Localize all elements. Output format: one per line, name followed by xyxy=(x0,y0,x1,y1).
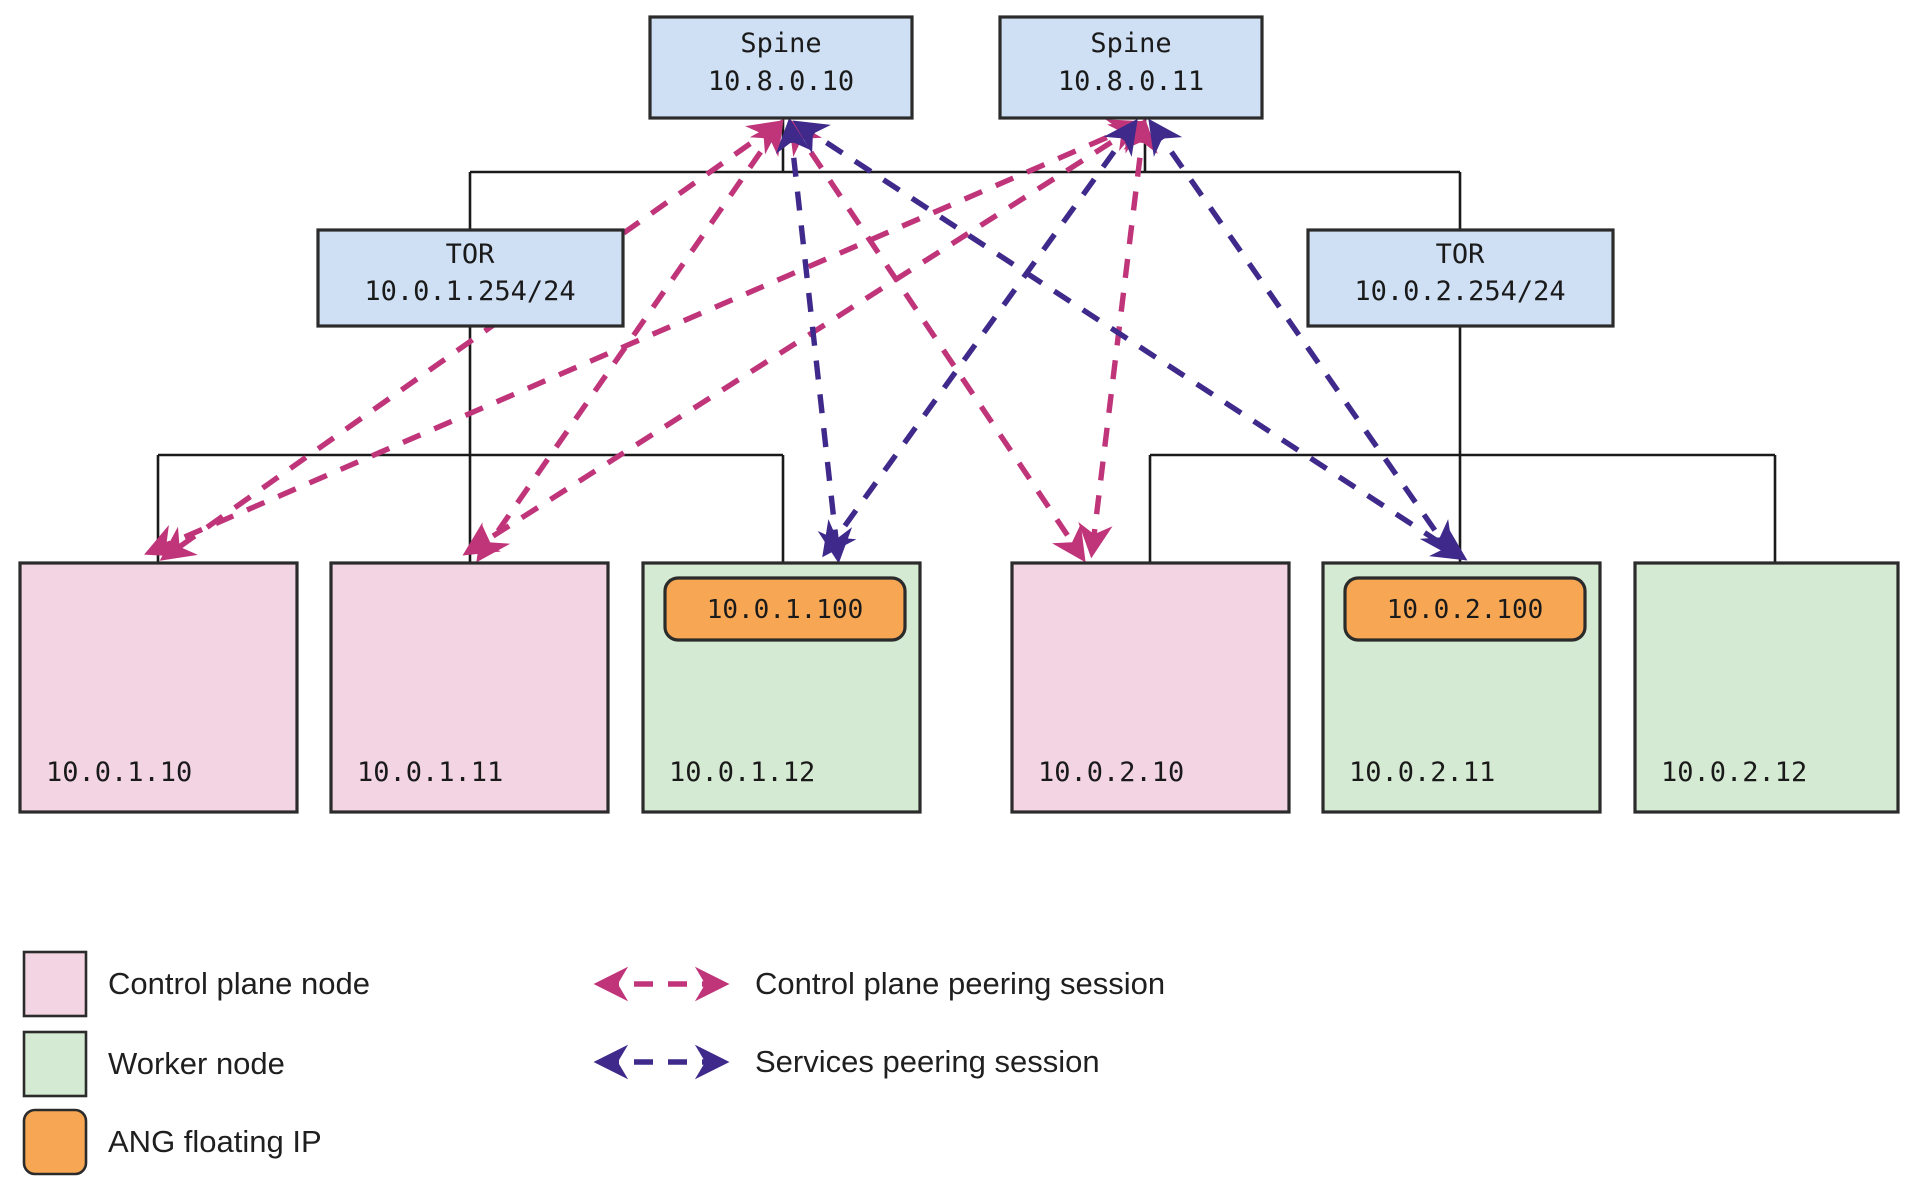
tor-switch-1-address: 10.0.1.254/24 xyxy=(364,276,575,307)
svc-session-spine2-fip1 xyxy=(826,124,1134,552)
spine-tor-bracket xyxy=(470,118,1460,242)
legend-item-control-plane-session: Control plane peering session xyxy=(600,966,1165,1001)
legend-label-services-session: Services peering session xyxy=(755,1044,1100,1079)
diagram-canvas: Spine 10.8.0.10 Spine 10.8.0.11 TOR 10.0… xyxy=(0,0,1918,1184)
cp-session-spine1-node2 xyxy=(480,124,780,557)
cp-session-spine2-node1 xyxy=(150,124,1138,552)
legend-item-control-plane-node: Control plane node xyxy=(24,952,370,1016)
legend-label-control-plane-session: Control plane peering session xyxy=(755,966,1165,1001)
legend-item-worker-node: Worker node xyxy=(24,1032,285,1096)
control-plane-peering-sessions xyxy=(150,124,1144,557)
tor-switch-2[interactable]: TOR 10.0.2.254/24 xyxy=(1308,230,1613,326)
spine-switch-1[interactable]: Spine 10.8.0.10 xyxy=(650,17,912,118)
floating-ip-label: 10.0.1.100 xyxy=(707,595,864,625)
node-10-0-2-11[interactable]: 10.0.2.100 10.0.2.11 xyxy=(1323,563,1600,812)
spine-switch-2-address: 10.8.0.11 xyxy=(1058,66,1204,97)
legend: Control plane node Worker node ANG float… xyxy=(24,952,1165,1174)
legend-item-floating-ip: ANG floating IP xyxy=(24,1110,322,1174)
cp-session-spine2-node2 xyxy=(468,124,1140,552)
svc-session-spine2-fip2 xyxy=(1152,124,1450,552)
svc-session-spine1-fip2 xyxy=(798,124,1462,557)
spine-switch-1-role: Spine xyxy=(740,28,821,59)
node-10-0-2-12[interactable]: 10.0.2.12 xyxy=(1635,563,1898,812)
cp-session-spine2-node4 xyxy=(1092,124,1144,552)
cp-session-spine1-node1 xyxy=(165,124,778,557)
spine-switch-1-address: 10.8.0.10 xyxy=(708,66,854,97)
tor-switch-2-role: TOR xyxy=(1436,239,1486,270)
tor2-rack-bracket xyxy=(1150,288,1775,563)
tor-switch-1[interactable]: TOR 10.0.1.254/24 xyxy=(318,230,623,326)
node-10-0-2-10[interactable]: 10.0.2.10 xyxy=(1012,563,1289,812)
floating-ip-label: 10.0.2.100 xyxy=(1387,595,1544,625)
node-address-label: 10.0.2.12 xyxy=(1661,757,1807,788)
node-10-0-1-10[interactable]: 10.0.1.10 xyxy=(20,563,297,812)
legend-label-worker-node: Worker node xyxy=(108,1046,285,1081)
tor-switch-2-address: 10.0.2.254/24 xyxy=(1354,276,1565,307)
node-address-label: 10.0.1.11 xyxy=(357,757,503,788)
node-address-label: 10.0.2.10 xyxy=(1038,757,1184,788)
spine-switch-2-role: Spine xyxy=(1090,28,1171,59)
worker-swatch-icon xyxy=(24,1032,86,1096)
node-address-label: 10.0.1.12 xyxy=(669,757,815,788)
physical-link-lines xyxy=(158,118,1775,563)
network-topology-diagram: Spine 10.8.0.10 Spine 10.8.0.11 TOR 10.0… xyxy=(0,0,1918,1184)
legend-item-services-session: Services peering session xyxy=(600,1044,1100,1079)
legend-label-floating-ip: ANG floating IP xyxy=(108,1124,322,1159)
node-10-0-1-11[interactable]: 10.0.1.11 xyxy=(331,563,608,812)
node-10-0-1-12[interactable]: 10.0.1.100 10.0.1.12 xyxy=(643,563,920,812)
spine-switch-2[interactable]: Spine 10.8.0.11 xyxy=(1000,17,1262,118)
legend-label-control-plane-node: Control plane node xyxy=(108,966,370,1001)
tor-switch-1-role: TOR xyxy=(446,239,496,270)
svc-session-spine1-fip1 xyxy=(790,124,838,557)
services-peering-sessions xyxy=(790,124,1462,557)
control-plane-swatch-icon xyxy=(24,952,86,1016)
node-address-label: 10.0.2.11 xyxy=(1349,757,1495,788)
tor1-rack-bracket xyxy=(158,288,783,563)
node-address-label: 10.0.1.10 xyxy=(46,757,192,788)
floating-ip-swatch-icon xyxy=(24,1110,86,1174)
